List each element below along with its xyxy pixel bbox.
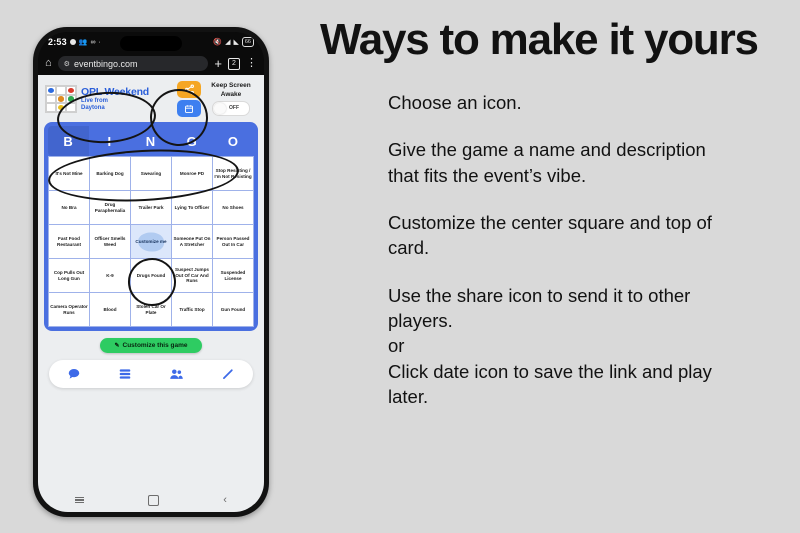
back-icon[interactable]: ‹: [223, 494, 227, 506]
url-bar[interactable]: ⚙ eventbingo.com: [58, 56, 209, 71]
plus-icon[interactable]: +: [214, 57, 222, 70]
bingo-cell[interactable]: Drug Paraphernalia: [90, 191, 130, 224]
bingo-cell[interactable]: Fast Food Restaurant: [49, 225, 89, 258]
bingo-grid: It's Not Mine Barking Dog Swearing Monro…: [48, 156, 254, 327]
bingo-cell[interactable]: No Bra: [49, 191, 89, 224]
android-nav-bar: ‹: [43, 488, 259, 512]
event-title-block: OPL Weekend Live from Daytona: [81, 87, 173, 112]
people-notification-icon: 👥: [79, 39, 88, 46]
instruction-item: Click date icon to save the link and pla…: [388, 359, 718, 410]
bottom-tab-bar: [49, 360, 253, 388]
page-title: Ways to make it yours: [320, 18, 782, 62]
bingo-cell[interactable]: Camera Operator Runs: [49, 293, 89, 326]
bingo-cell[interactable]: Monroe PD: [172, 157, 212, 190]
bingo-cell[interactable]: No Shoes: [213, 191, 253, 224]
bingo-center-cell[interactable]: Customize me: [131, 225, 171, 258]
list-icon[interactable]: [118, 367, 132, 381]
share-icon[interactable]: [177, 81, 201, 98]
status-time: 2:53: [48, 37, 67, 47]
event-subtitle-line1: Live from: [81, 98, 173, 104]
web-page: OPL Weekend Live from Daytona: [38, 75, 264, 512]
bingo-cell[interactable]: It's Not Mine: [49, 157, 89, 190]
bingo-cell[interactable]: Drugs Found: [131, 259, 171, 292]
instructions-panel: Ways to make it yours Choose an icon. Gi…: [320, 18, 782, 409]
bingo-cell[interactable]: Blood: [90, 293, 130, 326]
bingo-letter-b: B: [48, 126, 89, 156]
bingo-card: B I N G O It's Not Mine Barking Dog Swea…: [44, 122, 258, 331]
bingo-cell[interactable]: Stolen Car Or Plate: [131, 293, 171, 326]
phone-screen: 2:53 👥 ∞ · 🔇 ◢ ◣ 66 ⌂ ⚙ eventbi: [38, 32, 264, 512]
tab-count-icon[interactable]: 2: [228, 58, 240, 70]
battery-level: 66: [242, 37, 254, 47]
link-notification-icon: ∞: [91, 39, 96, 46]
bingo-cell[interactable]: Officer Smells Weed: [90, 225, 130, 258]
pencil-icon[interactable]: [221, 367, 235, 381]
browser-toolbar: ⌂ ⚙ eventbingo.com + 2 ⋮: [38, 52, 264, 75]
bingo-letter-o: O: [213, 126, 254, 156]
bingo-cell[interactable]: Gun Found: [213, 293, 253, 326]
bingo-cell[interactable]: Stop Resisting / I'm Not Resisting: [213, 157, 253, 190]
calendar-icon[interactable]: [177, 100, 201, 117]
bingo-cell[interactable]: Someone Put On A Stretcher: [172, 225, 212, 258]
instruction-item: Give the game a name and description tha…: [388, 137, 718, 188]
kebab-menu-icon[interactable]: ⋮: [246, 58, 257, 69]
bingo-letter-n: N: [130, 126, 171, 156]
keep-screen-awake-control: Keep Screen Awake OFF: [205, 82, 257, 115]
keep-screen-awake-toggle[interactable]: OFF: [212, 101, 250, 116]
bingo-header-row: B I N G O: [48, 126, 254, 156]
keep-screen-label-line1: Keep Screen: [205, 82, 257, 90]
customize-button-label: Customize this game: [123, 342, 188, 349]
notification-dot-icon: [70, 39, 76, 45]
mute-icon: 🔇: [213, 39, 222, 46]
more-notifications-icon: ·: [99, 39, 101, 46]
bingo-letter-g: G: [172, 126, 213, 156]
bingo-cell[interactable]: Cop Pulls Out Long Gun: [49, 259, 89, 292]
bingo-cell[interactable]: K-9: [90, 259, 130, 292]
home-icon[interactable]: ⌂: [45, 58, 52, 69]
home-icon[interactable]: [148, 495, 159, 506]
bingo-letter-i: I: [89, 126, 130, 156]
screenshot-canvas: 2:53 👥 ∞ · 🔇 ◢ ◣ 66 ⌂ ⚙ eventbi: [0, 0, 800, 533]
event-logo-icon[interactable]: [45, 85, 77, 113]
phone-notch: [120, 36, 182, 51]
keep-screen-label-line2: Awake: [205, 91, 257, 99]
instruction-item: Use the share icon to send it to other p…: [388, 283, 718, 334]
chat-icon[interactable]: [67, 367, 81, 381]
bingo-cell[interactable]: Suspended License: [213, 259, 253, 292]
bingo-cell[interactable]: Trailer Park: [131, 191, 171, 224]
site-settings-icon[interactable]: ⚙: [64, 60, 70, 68]
instructions-list: Choose an icon. Give the game a name and…: [388, 90, 782, 409]
wifi-icon: ◢: [225, 39, 230, 46]
event-title: OPL Weekend: [81, 87, 173, 98]
bingo-cell[interactable]: Person Passed Out In Car: [213, 225, 253, 258]
people-icon[interactable]: [169, 367, 184, 382]
action-icon-stack: [177, 81, 201, 117]
app-header: OPL Weekend Live from Daytona: [43, 79, 259, 120]
signal-icon: ◣: [233, 39, 238, 46]
customize-this-game-button[interactable]: ✎ Customize this game: [100, 338, 201, 353]
toggle-knob: [214, 103, 226, 114]
toggle-state-label: OFF: [229, 105, 239, 111]
phone-mockup: 2:53 👥 ∞ · 🔇 ◢ ◣ 66 ⌂ ⚙ eventbi: [33, 27, 269, 517]
event-subtitle-line2: Daytona: [81, 105, 173, 111]
instruction-item-or: or: [388, 333, 718, 358]
bingo-cell[interactable]: Traffic Stop: [172, 293, 212, 326]
instruction-item: Choose an icon.: [388, 90, 718, 115]
bingo-center-label: Customize me: [135, 239, 166, 245]
bingo-cell[interactable]: Barking Dog: [90, 157, 130, 190]
logo-grid: [46, 86, 76, 112]
bingo-cell[interactable]: Swearing: [131, 157, 171, 190]
bingo-cell[interactable]: Suspect Jumps Out Of Car And Runs: [172, 259, 212, 292]
pencil-icon: ✎: [114, 342, 119, 349]
bingo-cell[interactable]: Lying To Officer: [172, 191, 212, 224]
url-text: eventbingo.com: [74, 59, 138, 69]
recents-icon[interactable]: [75, 497, 84, 504]
instruction-item: Customize the center square and top of c…: [388, 210, 718, 261]
